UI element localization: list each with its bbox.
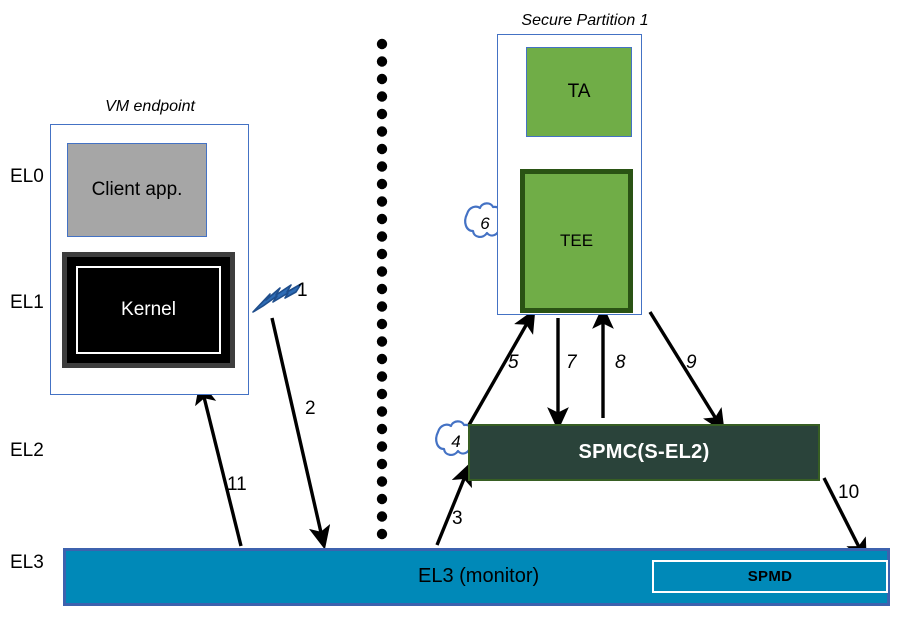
callout-4-label: 4: [436, 432, 476, 452]
flow-label-11: 11: [227, 474, 247, 496]
level-label-el0: EL0: [10, 166, 44, 188]
level-label-el3: EL3: [10, 552, 44, 574]
arrow-step-5: [469, 320, 529, 425]
callout-6: 6: [465, 205, 505, 243]
spmc-bar[interactable]: SPMC(S-EL2): [468, 424, 820, 481]
ta-label: TA: [568, 81, 591, 103]
spmd-label: SPMD: [748, 568, 793, 585]
diagram-canvas: EL0 EL1 EL2 EL3 VM endpoint Client app. …: [0, 0, 899, 625]
kernel-box[interactable]: Kernel: [62, 252, 235, 368]
tee-label: TEE: [560, 231, 593, 251]
tee-box[interactable]: TEE: [520, 169, 633, 313]
level-label-el2: EL2: [10, 440, 44, 462]
callout-4: 4: [436, 423, 476, 461]
callout-6-label: 6: [465, 214, 505, 234]
spmd-box[interactable]: SPMD: [652, 560, 888, 593]
ta-box[interactable]: TA: [526, 47, 632, 137]
flow-label-8: 8: [615, 352, 626, 374]
arrow-step-9: [650, 312, 718, 422]
client-app-label: Client app.: [92, 179, 183, 201]
flow-label-3: 3: [452, 508, 463, 530]
secure-partition-caption: Secure Partition 1: [470, 12, 700, 30]
arrow-step-2: [272, 318, 322, 537]
flow-label-9: 9: [686, 352, 697, 374]
client-app-box[interactable]: Client app.: [67, 143, 207, 237]
spmc-label: SPMC(S-EL2): [578, 441, 709, 464]
flow-label-2: 2: [305, 398, 316, 420]
el3-monitor-label: EL3 (monitor): [418, 565, 539, 588]
vm-endpoint-caption: VM endpoint: [50, 98, 250, 116]
level-label-el1: EL1: [10, 292, 44, 314]
arrow-step-11: [203, 393, 241, 546]
lightning-bolt-icon: [253, 284, 301, 312]
flow-label-5: 5: [508, 352, 519, 374]
kernel-label: Kernel: [121, 299, 176, 321]
flow-label-7: 7: [566, 352, 577, 374]
kernel-inner-frame: Kernel: [76, 266, 221, 354]
flow-label-1: 1: [297, 280, 308, 302]
flow-label-10: 10: [838, 482, 859, 504]
dotted-vertical-divider-icon: [377, 39, 387, 539]
